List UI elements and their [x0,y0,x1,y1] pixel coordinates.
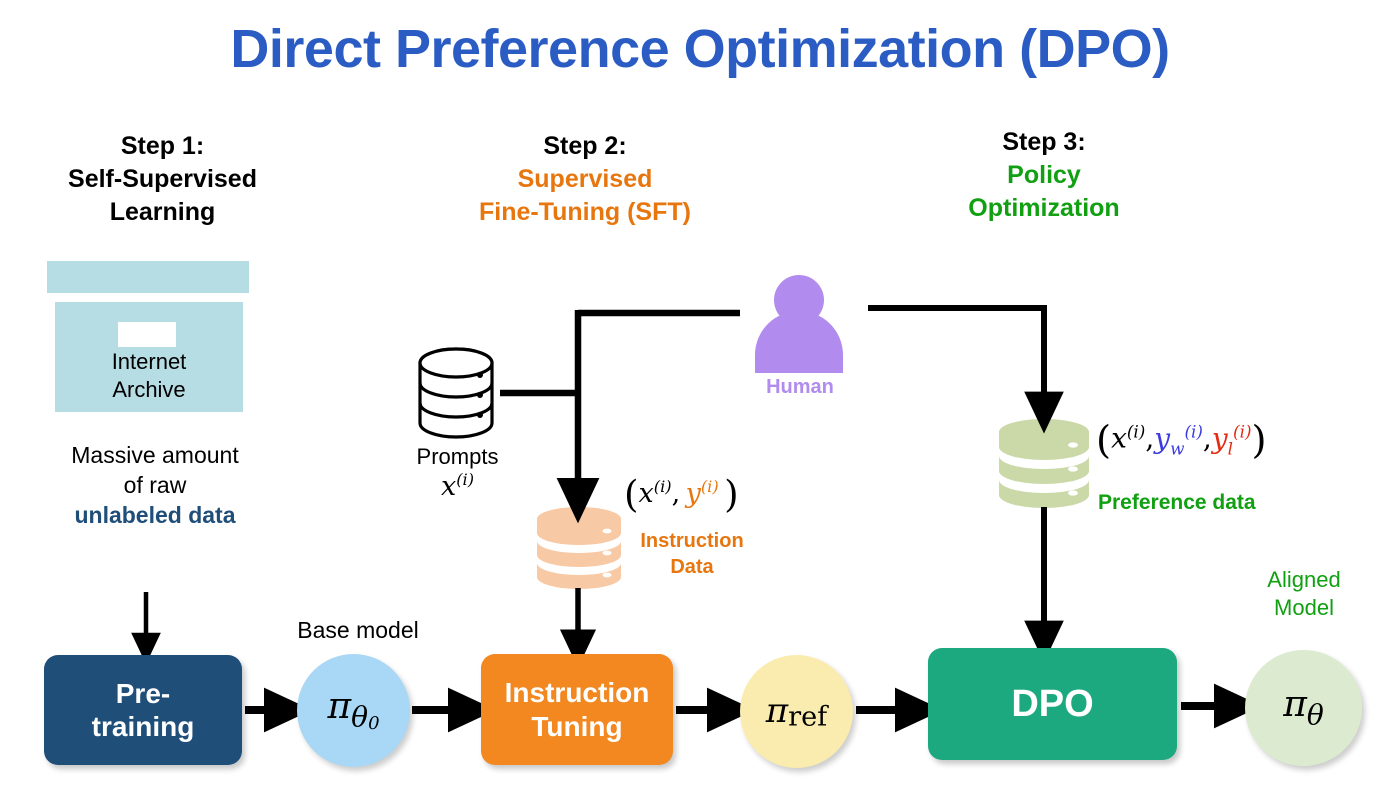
step-2-number: Step 2: [455,130,715,163]
dpo-block[interactable]: DPO [928,648,1177,760]
instruction-data-line2: Data [626,555,758,581]
step-1-line3: Learning [35,196,290,229]
aligned-model-node[interactable]: πθ [1245,650,1362,766]
aligned-model-label: Aligned Model [1234,566,1374,622]
pi-theta0-symbol: πθ0 [327,686,379,734]
instruction-data-line1: Instruction [626,529,758,555]
step-2-line2: Supervised [455,163,715,196]
instruction-data-label: Instruction Data [626,529,758,580]
step-3-line3: Optimization [915,192,1173,225]
instruction-tuning-block[interactable]: Instruction Tuning [481,654,673,765]
aligned-line1: Aligned [1234,566,1374,594]
archive-label-line1: Internet [55,348,243,376]
pi-ref-symbol: πref [766,691,828,732]
instruction-tuple-math: (x(i), y(i) ) [624,472,739,516]
pi-theta-symbol: πθ [1283,684,1324,731]
archive-label-line2: Archive [55,376,243,404]
massive-highlight: unlabeled data [20,501,290,531]
aligned-line2: Model [1234,594,1374,622]
step-1-number: Step 1: [35,130,290,163]
massive-line1: Massive amount [20,441,290,471]
step-3-number: Step 3: [915,126,1173,159]
step-3-header: Step 3: Policy Optimization [915,126,1173,225]
instruction-data-database-icon [537,507,621,589]
reference-model-node[interactable]: πref [740,655,853,768]
base-model-node[interactable]: πθ0 [297,654,410,767]
person-icon [755,275,843,373]
unlabeled-data-caption: Massive amount of raw unlabeled data [20,441,290,531]
pretraining-line1: Pre- [92,677,195,710]
preference-data-database-icon [999,419,1089,508]
base-model-label: Base model [268,616,448,646]
page-title: Direct Preference Optimization (DPO) [0,18,1400,80]
step-1-header: Step 1: Self-Supervised Learning [35,130,290,229]
step-3-line2: Policy [915,159,1173,192]
pretraining-block[interactable]: Pre- training [44,655,242,765]
step-1-line2: Self-Supervised [35,163,290,196]
step-2-line3: Fine-Tuning (SFT) [455,196,715,229]
prompts-database-icon [420,349,492,437]
pretraining-line2: training [92,710,195,743]
human-to-preference-data-connector [868,305,1044,412]
archive-white-slot [118,322,176,347]
instruction-tuning-line1: Instruction [505,676,650,709]
prompts-math: x(i) [380,470,535,502]
prompts-label: Prompts [380,443,535,472]
dpo-label: DPO [1011,682,1093,727]
massive-line2: of raw [20,471,290,501]
diagram-canvas: Direct Preference Optimization (DPO) Ste… [0,0,1400,802]
preference-tuple-math: (x(i),yw(i),yl(i)) [1096,418,1267,463]
archive-header-bar [47,261,249,293]
step-2-header: Step 2: Supervised Fine-Tuning (SFT) [455,130,715,229]
archive-label: Internet Archive [55,348,243,404]
preference-data-label: Preference data [1098,491,1308,515]
human-label: Human [735,376,865,399]
instruction-tuning-line2: Tuning [505,710,650,743]
